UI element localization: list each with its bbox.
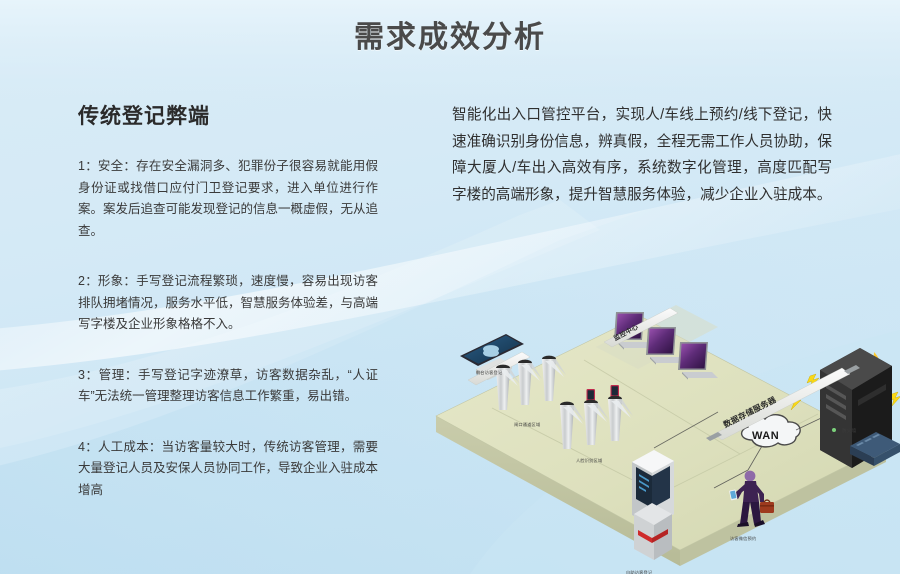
- isometric-system-diagram: 前台访客登记 闸口通道区域 人脸识别区域 监控中心 防火墙 数据存储服务器 自助…: [418, 298, 900, 574]
- self-service-kiosk: [632, 450, 674, 560]
- drawback-item-2: 2：形象：手写登记流程繁琐，速度慢，容易出现访客排队拥堵情况，服务水平低，智慧服…: [78, 271, 378, 336]
- left-panel: 传统登记弊端 1：安全：存在安全漏洞多、犯罪份子很容易就能用假身份证或找借口应付…: [78, 100, 378, 501]
- left-panel-heading: 传统登记弊端: [78, 100, 378, 130]
- slide-canvas: 需求成效分析 传统登记弊端 1：安全：存在安全漏洞多、犯罪份子很容易就能用假身份…: [0, 0, 900, 574]
- label-kiosk: 自助访客登记: [626, 570, 652, 574]
- label-face-area: 人脸识别区域: [576, 458, 602, 464]
- label-wan: WAN: [752, 430, 779, 442]
- label-visitor: 访客微信预约: [730, 536, 756, 542]
- drawback-item-1: 1：安全：存在安全漏洞多、犯罪份子很容易就能用假身份证或找借口应付门卫登记要求，…: [78, 156, 378, 242]
- diagram-svg: [418, 298, 900, 574]
- drawback-item-3: 3：管理：手写登记字迹潦草，访客数据杂乱，“人证车”无法统一管理整理访客信息工作…: [78, 365, 378, 408]
- label-gate-area: 闸口通道区域: [514, 422, 540, 428]
- label-firewall: 防火墙: [842, 428, 856, 434]
- page-title: 需求成效分析: [0, 12, 900, 56]
- label-reception: 前台访客登记: [476, 370, 502, 376]
- solution-paragraph: 智能化出入口管控平台，实现人/车线上预约/线下登记，快速准确识别身份信息，辨真假…: [452, 102, 832, 208]
- drawback-item-4: 4：人工成本：当访客量较大时，传统访客管理，需要大量登记人员及安保人员协同工作，…: [78, 437, 378, 502]
